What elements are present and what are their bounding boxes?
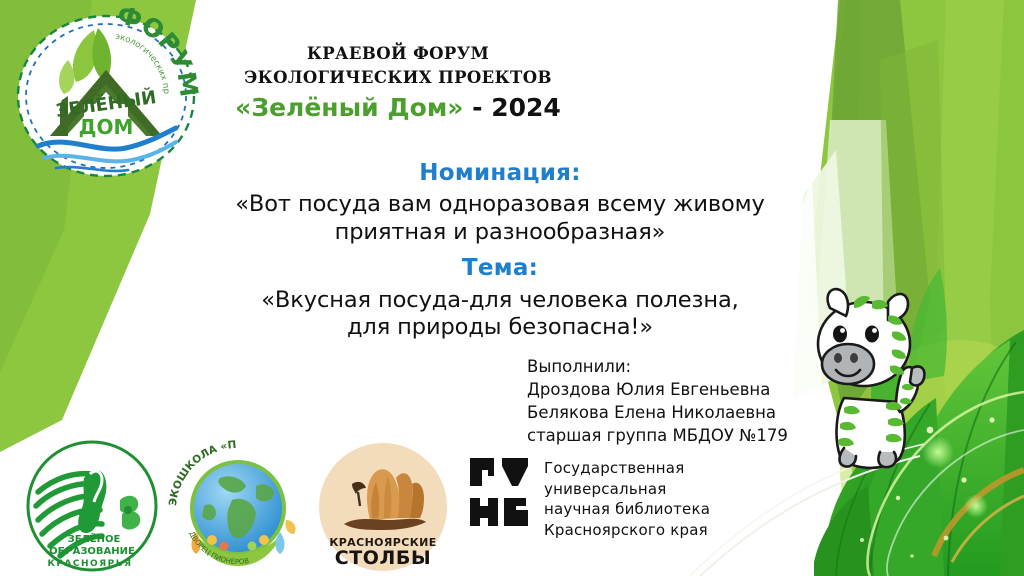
forum-emblem: ЗЕЛЁНЫЙ ДОМ ФОРУМ экологических проектов [6, 8, 206, 184]
nomination-label: Номинация: [180, 160, 820, 186]
theme-label: Тема: [180, 255, 820, 281]
nomination-line-2: приятная и разнообразная» [180, 219, 820, 246]
title-line-1: КРАЕВОЙ ФОРУМ [228, 42, 568, 66]
logo1-text-2: ОБРАЗОВАНИЕ [49, 546, 135, 557]
author-name-2: Белякова Елена Николаевна [527, 401, 827, 424]
emblem-word-house: ДОМ [79, 115, 134, 139]
library-monogram-icon [468, 456, 530, 528]
library-line-2: универсальная [544, 479, 710, 500]
title-separator: - [463, 93, 491, 122]
title-year: 2024 [491, 93, 561, 122]
library-line-3: научная библиотека [544, 499, 710, 520]
author-group: старшая группа МБДОУ №179 [527, 424, 827, 447]
title-line-2: ЭКОЛОГИЧЕСКИХ ПРОЕКТОВ [228, 66, 568, 90]
theme-line-1: «Вкусная посуда-для человека полезна, [180, 287, 820, 314]
authors-label: Выполнили: [527, 355, 827, 378]
presentation-slide: ЗЕЛЁНЫЙ ДОМ ФОРУМ экологических проектов… [0, 0, 1024, 576]
logo1-text-1: ЗЕЛЁНОЕ [68, 531, 121, 545]
library-line-1: Государственная [544, 458, 710, 479]
logo-krasnoyarsk-stolby: КРАСНОЯРСКИЕ СТОЛБЫ [318, 442, 448, 572]
logo-state-library: Государственная универсальная научная би… [468, 456, 768, 568]
logo-green-education: ЗЕЛЁНОЕ ОБРАЗОВАНИЕ КРАСНОЯРЬЯ [24, 438, 160, 574]
library-line-4: Красноярского края [544, 520, 710, 541]
author-name-1: Дроздова Юлия Евгеньевна [527, 378, 827, 401]
theme-line-2: для природы безопасна!» [180, 314, 820, 341]
logo3-text-2: СТОЛБЫ [335, 547, 432, 569]
library-name-text: Государственная универсальная научная би… [544, 456, 710, 541]
title-line-3: «Зелёный Дом» - 2024 [228, 92, 568, 125]
title-green-text: «Зелёный Дом» [235, 93, 463, 122]
zebra-mascot-icon [792, 272, 952, 472]
logo1-text-3: КРАСНОЯРЬЯ [47, 559, 132, 569]
logo-ecoschool-planet: ЭКОШКОЛА «ПЛАНЕТА-ОБЩИЙ ДОМ» [168, 436, 308, 576]
authors-block: Выполнили: Дроздова Юлия Евгеньевна Беля… [527, 355, 827, 447]
slide-body-text: Номинация: «Вот посуда вам одноразовая в… [180, 160, 820, 342]
spacer [180, 246, 820, 255]
nomination-line-1: «Вот посуда вам одноразовая всему живому [180, 191, 820, 218]
slide-title: КРАЕВОЙ ФОРУМ ЭКОЛОГИЧЕСКИХ ПРОЕКТОВ «Зе… [228, 42, 568, 124]
